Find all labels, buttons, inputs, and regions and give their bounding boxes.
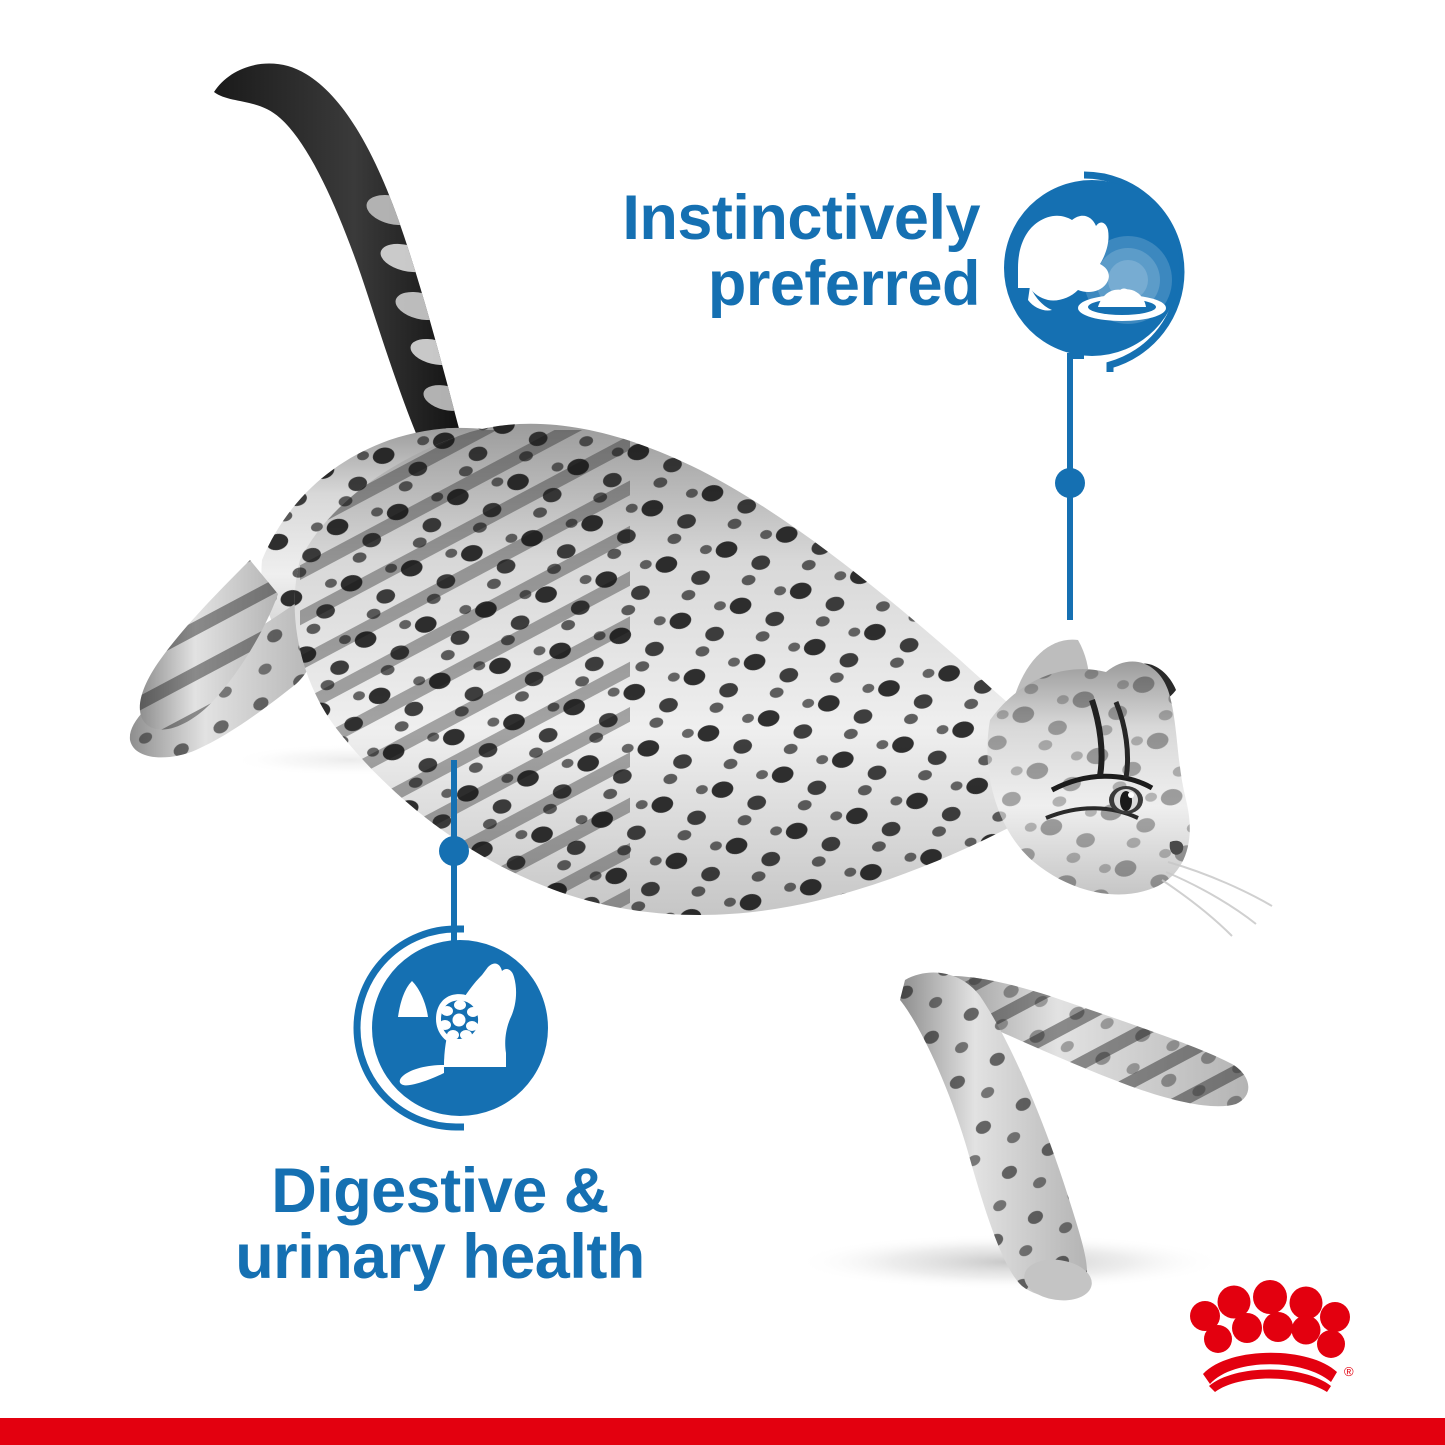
cat-eye bbox=[1109, 786, 1143, 814]
cat-front-leg bbox=[880, 960, 1110, 1320]
callout-digestive-urinary-health-label: Digestive & urinary health bbox=[150, 1159, 730, 1290]
cat-outstretched-leg bbox=[900, 960, 1280, 1130]
pack-artwork-canvas: Instinctively preferred bbox=[0, 0, 1445, 1445]
royal-canin-crown-logo: ® bbox=[1185, 1272, 1355, 1400]
cat-floor-shadow bbox=[795, 1234, 1225, 1290]
registered-trademark-mark: ® bbox=[1344, 1364, 1354, 1379]
cat-head bbox=[980, 640, 1272, 936]
bottom-red-bar bbox=[0, 1418, 1445, 1445]
sitting-cat-kidney-icon[interactable] bbox=[348, 925, 556, 1133]
callout-instinctively-preferred-label: Instinctively preferred bbox=[550, 186, 980, 317]
cat-haunch bbox=[240, 410, 640, 690]
callout-top-connector-line bbox=[1040, 352, 1140, 624]
cat-tail bbox=[214, 64, 479, 489]
cat-whiskers bbox=[1162, 862, 1272, 936]
cat-back-legs bbox=[110, 540, 350, 780]
cat-eating-from-bowl-icon[interactable] bbox=[1000, 168, 1208, 376]
cat-body bbox=[280, 400, 1100, 940]
